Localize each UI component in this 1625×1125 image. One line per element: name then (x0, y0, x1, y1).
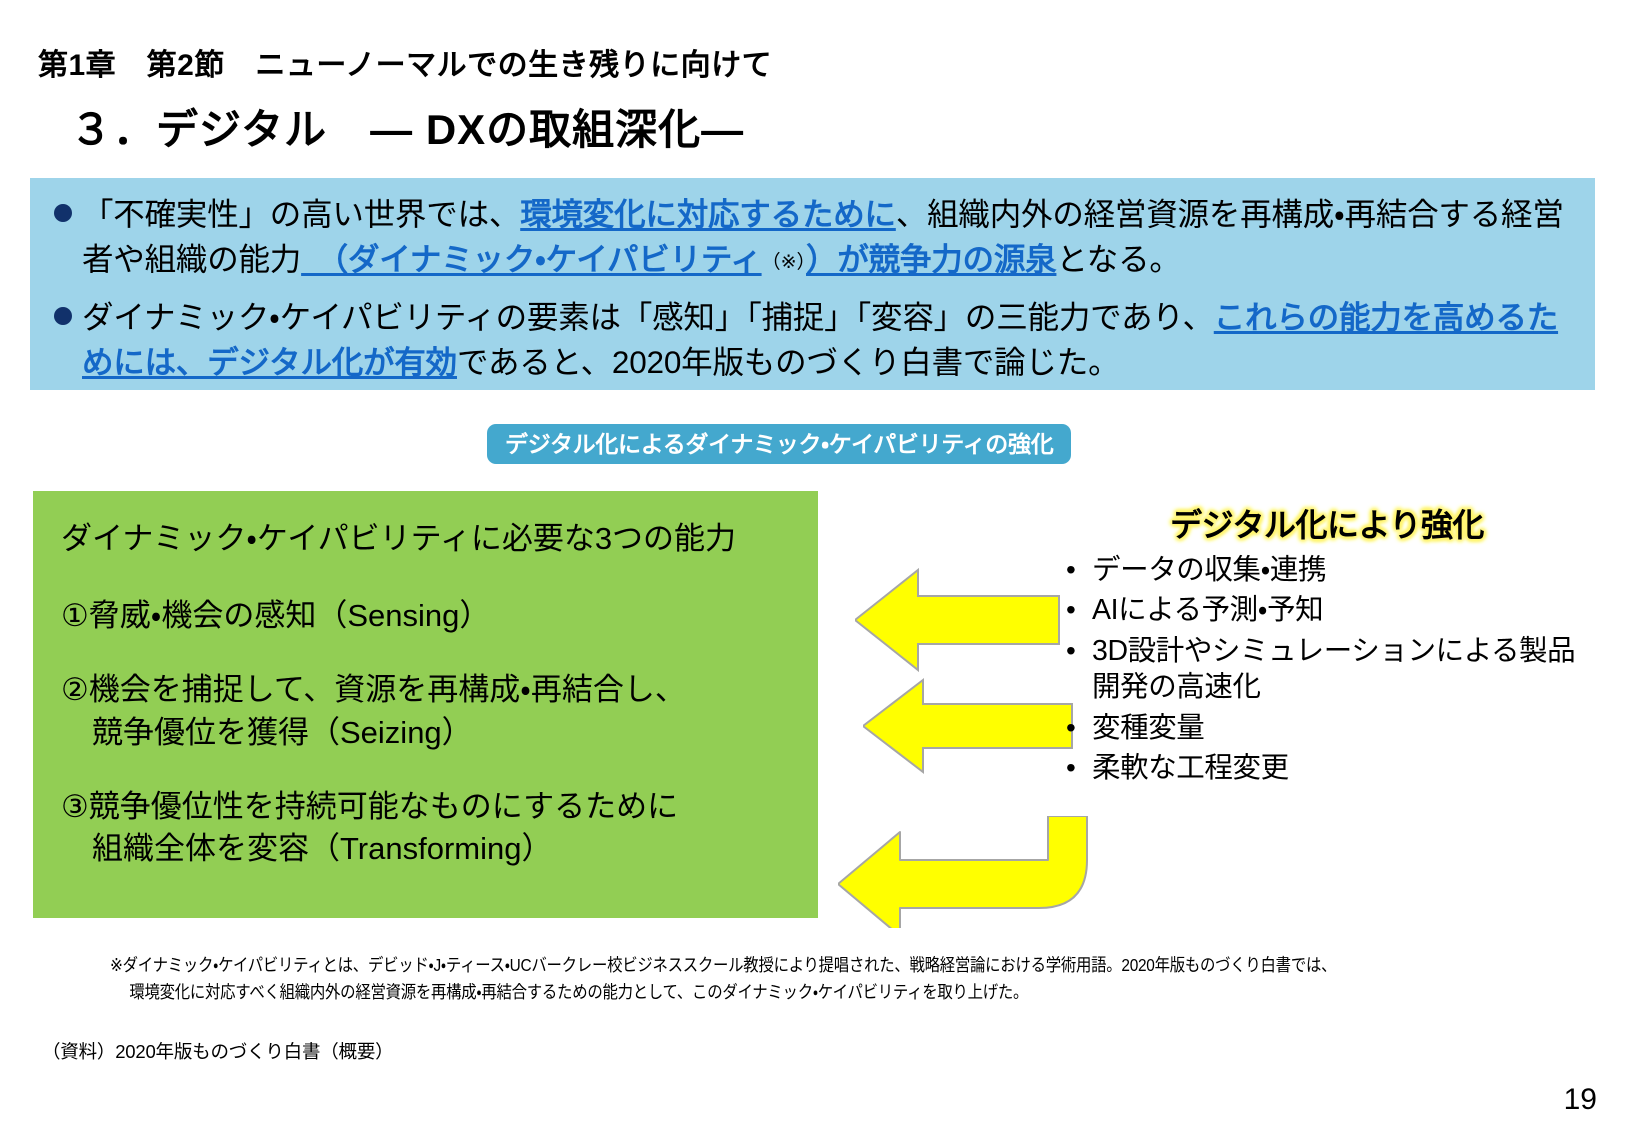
summary-bullet-2: ダイナミック・ケイパビリティの要素は「感知」「捕捉」「変容」の三能力であり、これ… (48, 295, 1577, 384)
list-item: AIによる予測・予知 (1062, 592, 1592, 628)
footnote-line-2: 環境変化に対応すべく組織内外の経営資源を再構成・再結合するための能力として、この… (110, 979, 1360, 1006)
arrow-sensing-icon (855, 566, 1060, 674)
seg-plain: 「不確実性」の高い世界では、 (82, 196, 520, 232)
summary-bullet-1: 「不確実性」の高い世界では、環境変化に対応するために、組織内外の経営資源を再構成… (48, 192, 1577, 281)
capability-item-3: ③競争優位性を持続可能なものにするために 組織全体を変容（Transformin… (61, 786, 818, 870)
list-item: 変種変量 (1062, 710, 1592, 746)
list-item: データの収集・連携 (1062, 552, 1592, 588)
list-item: 3D設計やシミュレーションによる製品開発の高速化 (1062, 633, 1592, 706)
summary-box: 「不確実性」の高い世界では、環境変化に対応するために、組織内外の経営資源を再構成… (30, 178, 1595, 390)
digital-effects-list: データの収集・連携 AIによる予測・予知 3D設計やシミュレーションによる製品開… (1062, 552, 1592, 787)
summary-bullet-1-text: 「不確実性」の高い世界では、環境変化に対応するために、組織内外の経営資源を再構成… (82, 192, 1577, 281)
source-label: （資料）2020年版ものづくり白書（概要） (42, 1038, 393, 1064)
seg-highlight: （ダイナミック・ケイパビリティ (301, 241, 761, 277)
footnote-marker: （※） (762, 252, 806, 273)
digital-effects-column: デジタル化により強化 データの収集・連携 AIによる予測・予知 3D設計やシミュ… (1062, 500, 1592, 791)
bullet-dot-icon (54, 307, 72, 325)
chapter-heading: 第1章 第2節 ニューノーマルでの生き残りに向けて (38, 40, 772, 84)
page-title: ３．デジタル ― DXの取組深化― (70, 96, 744, 157)
slide-root: 第1章 第2節 ニューノーマルでの生き残りに向けて ３．デジタル ― DXの取組… (0, 0, 1625, 1125)
seg-highlight: ）が競争力の源泉 (806, 241, 1056, 277)
digital-effects-heading: デジタル化により強化 (1062, 500, 1592, 546)
seg-plain: となる。 (1056, 241, 1180, 277)
arrow-seizing-icon (863, 676, 1073, 776)
capability-item-1: ①脅威・機会の感知（Sensing） (61, 595, 818, 637)
capability-item-2: ②機会を捕捉して、資源を再構成・再結合し、 競争優位を獲得（Seizing） (61, 669, 818, 753)
section-banner: デジタル化によるダイナミック・ケイパビリティの強化 (487, 424, 1071, 464)
seg-plain: であると、2020年版ものづくり白書で論じた。 (457, 344, 1119, 380)
bullet-dot-icon (54, 204, 72, 222)
list-item: 柔軟な工程変更 (1062, 750, 1592, 786)
capabilities-panel: ダイナミック・ケイパビリティに必要な3つの能力 ①脅威・機会の感知（Sensin… (33, 491, 818, 918)
arrow-transforming-icon (838, 816, 1088, 928)
footnote: ※ダイナミック・ケイパビリティとは、デビッド・J・ティース・UCバークレー校ビジ… (110, 952, 1360, 1006)
seg-highlight: 環境変化に対応するために (520, 196, 896, 232)
seg-plain: ダイナミック・ケイパビリティの要素は「感知」「捕捉」「変容」の三能力であり、 (82, 299, 1214, 335)
summary-bullet-2-text: ダイナミック・ケイパビリティの要素は「感知」「捕捉」「変容」の三能力であり、これ… (82, 295, 1577, 384)
footnote-line-1: ※ダイナミック・ケイパビリティとは、デビッド・J・ティース・UCバークレー校ビジ… (110, 955, 1336, 975)
page-number: 19 (1564, 1083, 1597, 1117)
capabilities-heading: ダイナミック・ケイパビリティに必要な3つの能力 (61, 519, 818, 559)
